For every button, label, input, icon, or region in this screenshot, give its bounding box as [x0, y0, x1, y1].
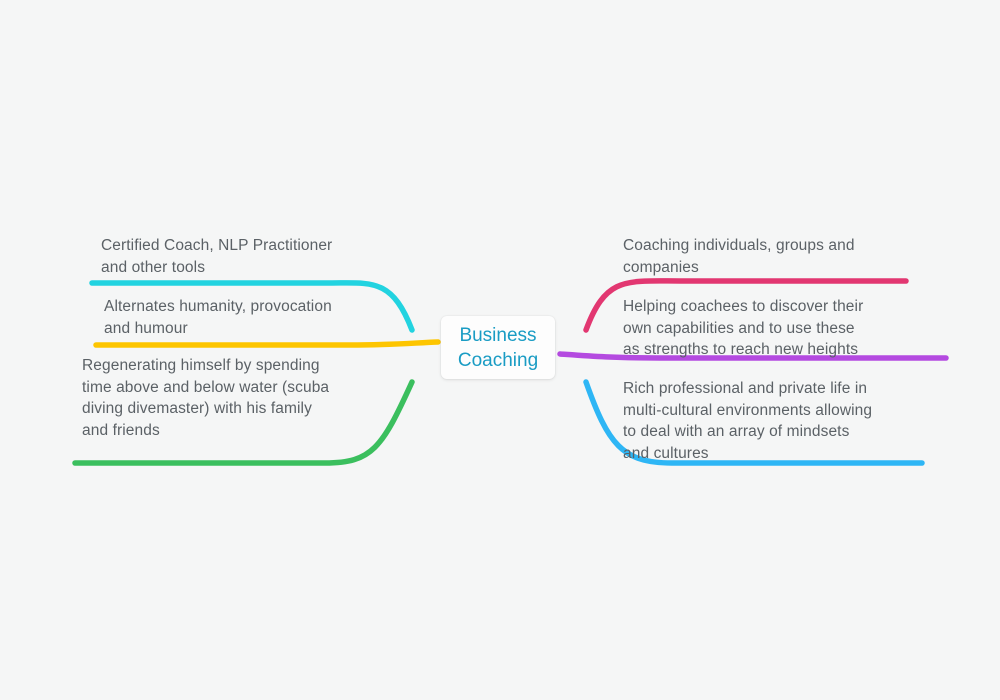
topic-rich-professional[interactable]: Rich professional and private life in mu…: [623, 378, 928, 464]
topic-regenerating-himself[interactable]: Regenerating himself by spending time ab…: [82, 355, 387, 441]
topic-coaching-individuals[interactable]: Coaching individuals, groups and compani…: [623, 235, 923, 278]
topic-alternates-humanity[interactable]: Alternates humanity, provocation and hum…: [104, 296, 404, 339]
branch-line-alternates-humanity: [96, 342, 438, 345]
central-node-label: Business Coaching: [458, 323, 538, 373]
mindmap-canvas: Certified Coach, NLP Practitioner and ot…: [0, 0, 1000, 700]
topic-certified-coach[interactable]: Certified Coach, NLP Practitioner and ot…: [101, 235, 401, 278]
central-node[interactable]: Business Coaching: [441, 316, 555, 379]
topic-helping-coachees[interactable]: Helping coachees to discover their own c…: [623, 296, 923, 361]
